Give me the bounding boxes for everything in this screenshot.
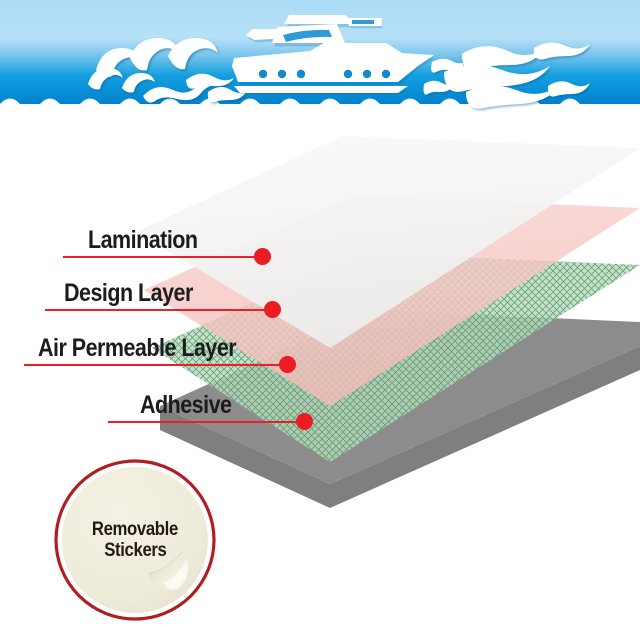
callout-dot-adhesive[interactable] xyxy=(296,413,313,430)
header-banner xyxy=(0,0,640,116)
callout-dot-lamination[interactable] xyxy=(254,248,271,265)
callout-dot-design-layer[interactable] xyxy=(264,301,281,318)
callout-leader-line-lamination xyxy=(63,256,263,258)
callout-label-design-layer: Design Layer xyxy=(64,281,193,306)
diagram-canvas: Lamination Design Layer Air Permeable La… xyxy=(0,0,640,640)
removable-stickers-badge[interactable]: Removable Stickers xyxy=(52,457,218,623)
sticker-disc xyxy=(62,467,208,613)
sticker-graphic xyxy=(52,457,218,623)
callout-dot-air-permeable-layer[interactable] xyxy=(279,356,296,373)
callout-leader-line-design-layer xyxy=(45,309,273,311)
banner-graphic xyxy=(0,0,640,116)
callout-label-air-permeable-layer: Air Permeable Layer xyxy=(38,336,236,361)
callout-leader-line-adhesive xyxy=(108,421,308,423)
callout-leader-line-air-permeable-layer xyxy=(24,364,288,366)
callout-label-adhesive: Adhesive xyxy=(140,393,231,418)
callout-label-lamination: Lamination xyxy=(88,228,198,253)
